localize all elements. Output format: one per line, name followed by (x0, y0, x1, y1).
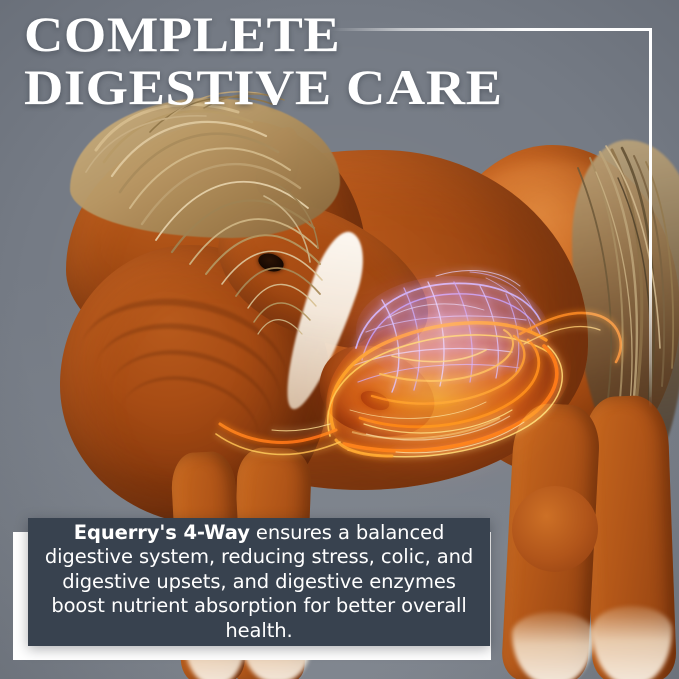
caption-card: Equerry's 4-Way ensures a balanced diges… (28, 518, 490, 646)
caption-brand: Equerry's 4-Way (74, 521, 250, 544)
product-ad-banner: COMPLETE DIGESTIVE CARE Equerry's 4-Way … (0, 0, 679, 679)
headline-line-2: DIGESTIVE CARE (24, 63, 503, 112)
caption-text: Equerry's 4-Way ensures a balanced diges… (42, 521, 476, 644)
intestine-mass (326, 276, 571, 456)
headline: COMPLETE DIGESTIVE CARE (24, 10, 463, 112)
frame-right-rule (649, 28, 652, 408)
headline-line-1: COMPLETE (24, 10, 503, 59)
